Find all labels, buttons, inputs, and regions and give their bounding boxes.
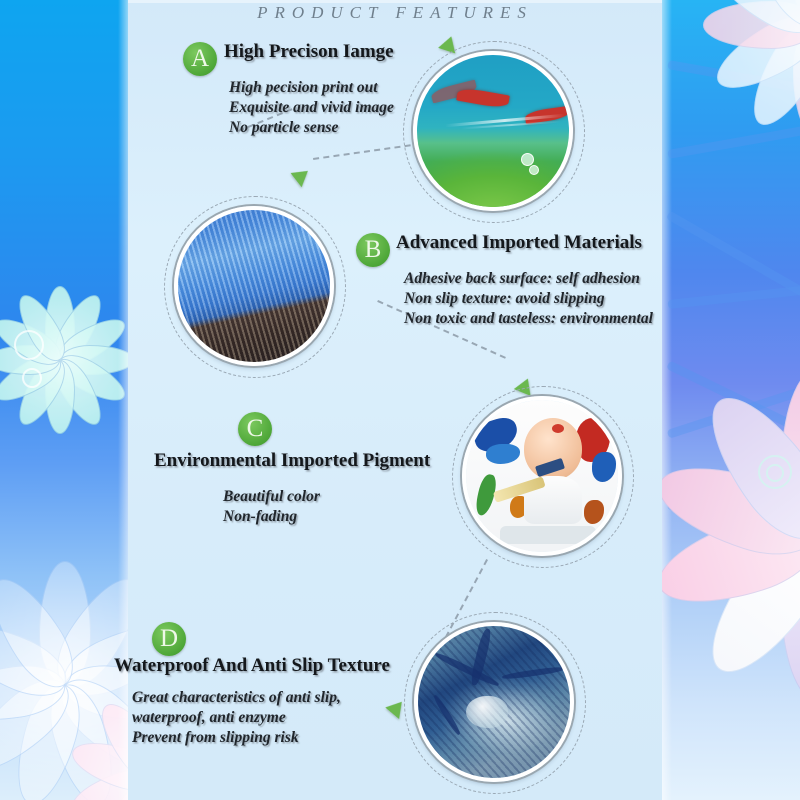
feature-heading-c: Environmental Imported Pigment — [154, 450, 430, 472]
feature-body-a: High pecision print out Exquisite and vi… — [229, 78, 394, 138]
pale-flower-ornament-right — [702, 0, 800, 140]
feature-badge-a: A — [183, 42, 217, 76]
baby-painting-photo — [466, 400, 618, 552]
feature-heading-a: High Precison Iamge — [224, 41, 394, 63]
infographic-stage: PRODUCT FEATURES A High Precison Iamge H… — [0, 0, 800, 800]
feature-image-a — [413, 51, 573, 211]
swirl-ornament — [766, 464, 784, 482]
feature-image-c — [462, 396, 622, 556]
swirl-ornament — [22, 368, 42, 388]
feature-badge-c: C — [238, 412, 272, 446]
cyan-flower-ornament — [0, 285, 128, 435]
feature-image-b — [174, 206, 334, 366]
feature-body-d: Great characteristics of anti slip, wate… — [132, 688, 341, 748]
left-decorative-band — [0, 0, 128, 800]
feature-body-c: Beautiful color Non-fading — [223, 487, 320, 527]
pink-flower-ornament-right — [662, 370, 800, 700]
feature-image-d — [414, 622, 574, 782]
feature-badge-d: D — [152, 622, 186, 656]
main-panel: PRODUCT FEATURES A High Precison Iamge H… — [128, 0, 662, 800]
arrow-icon-b — [291, 164, 314, 187]
ray-ornament — [666, 211, 800, 339]
right-decorative-band — [662, 0, 800, 800]
pink-petal-ornament-left — [70, 690, 128, 800]
swirl-ornament — [14, 330, 44, 360]
blue-textured-fabric-photo — [178, 210, 330, 362]
page-title: PRODUCT FEATURES — [128, 3, 662, 23]
feature-heading-b: Advanced Imported Materials — [396, 232, 642, 254]
feature-badge-b: B — [356, 233, 390, 267]
koi-pond-print-photo — [417, 55, 569, 207]
waterproof-surface-photo — [418, 626, 570, 778]
feature-body-b: Adhesive back surface: self adhesion Non… — [404, 269, 653, 329]
feature-heading-d: Waterproof And Anti Slip Texture — [114, 655, 390, 677]
